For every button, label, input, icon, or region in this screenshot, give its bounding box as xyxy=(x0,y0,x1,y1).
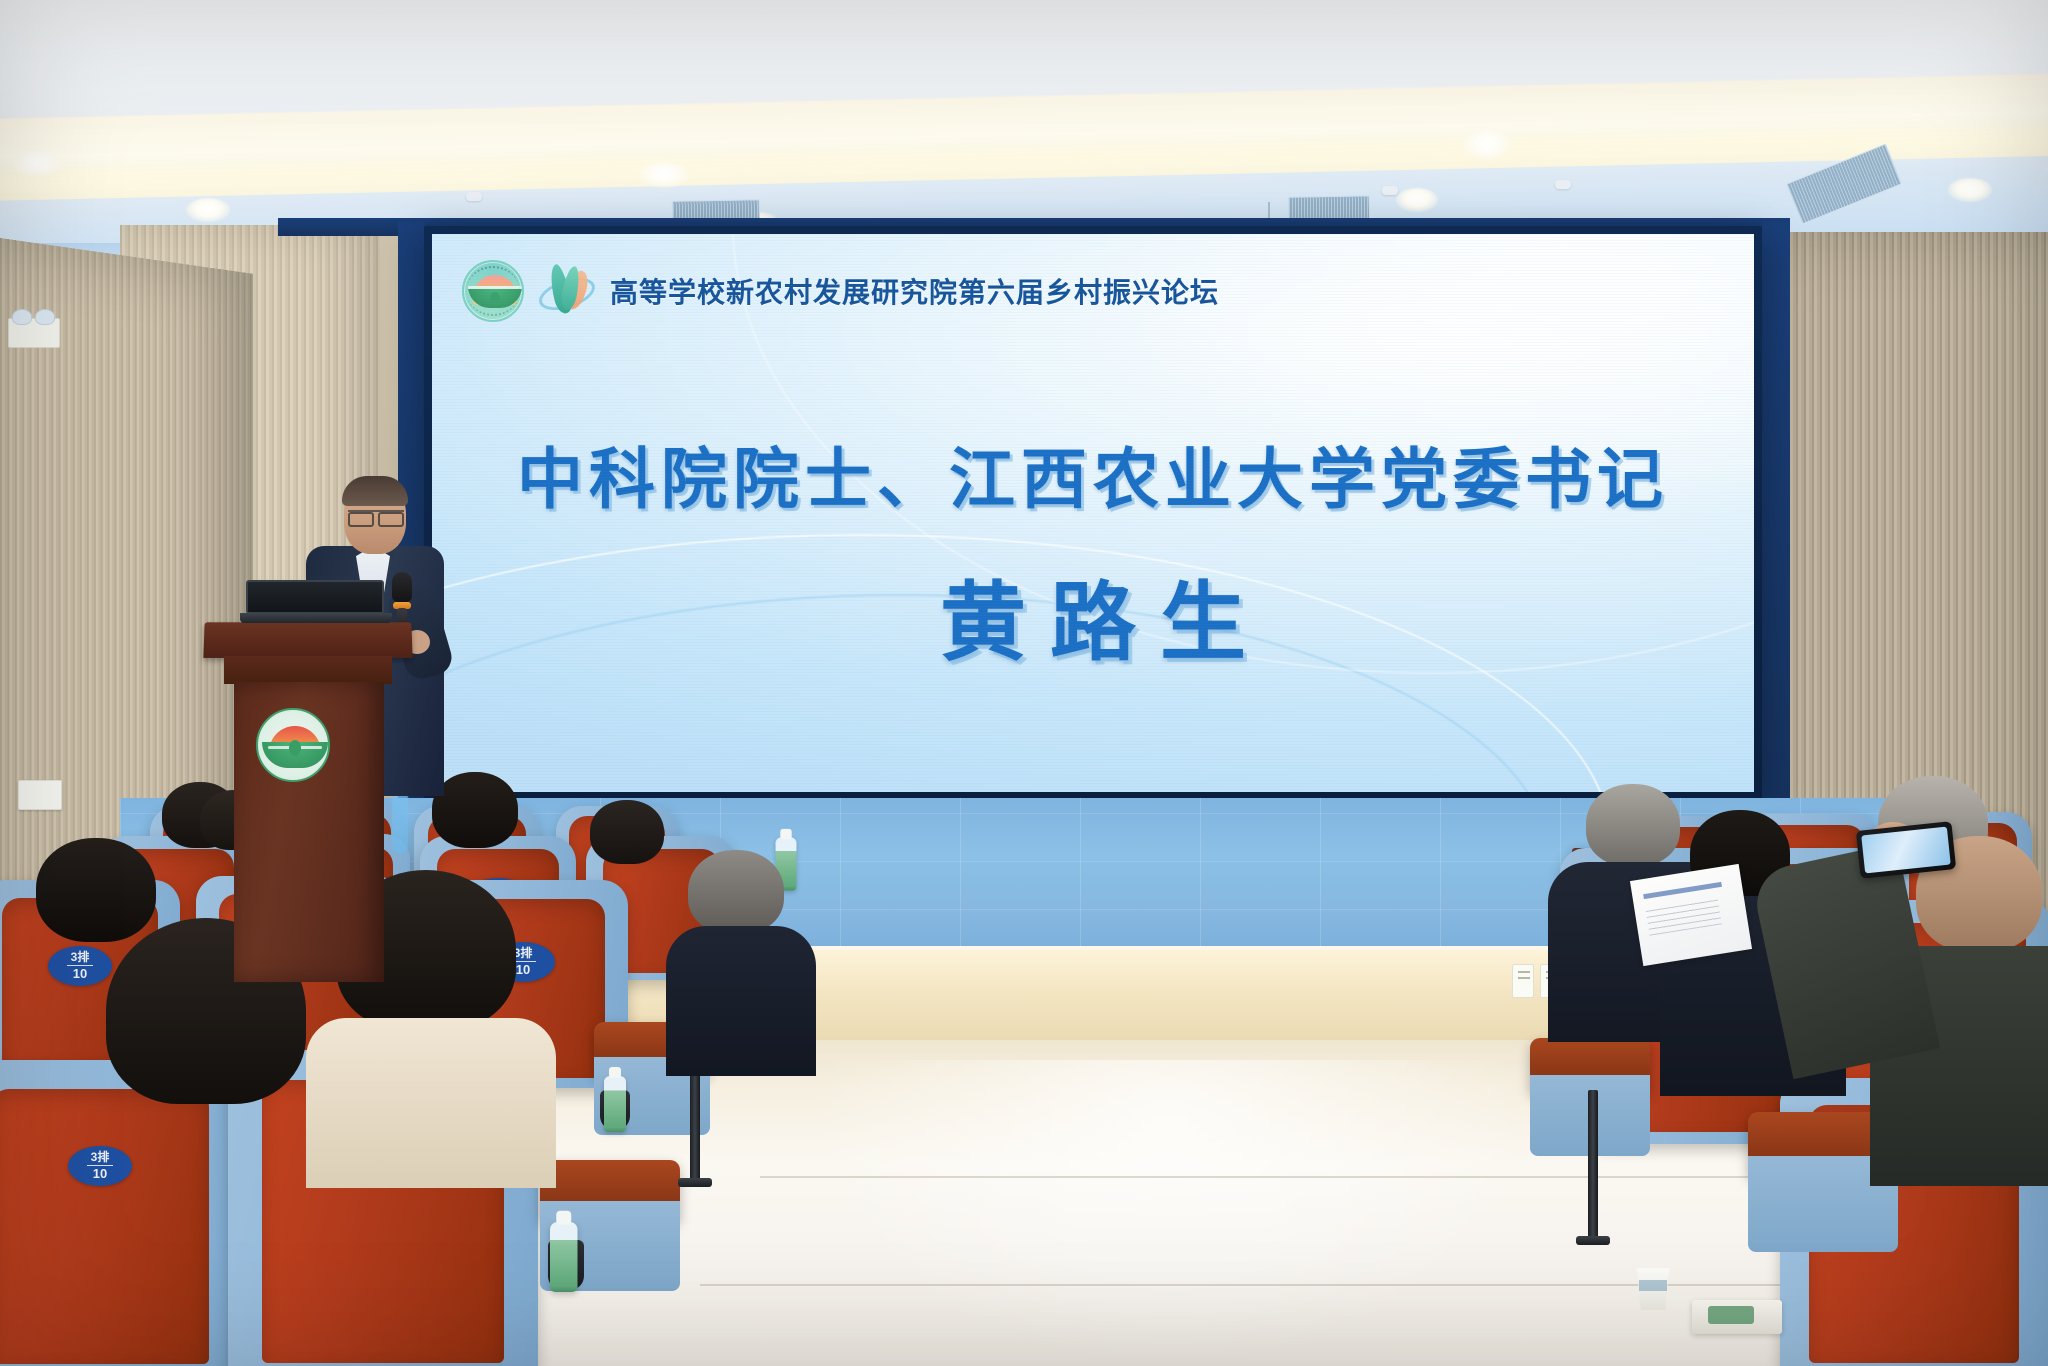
forum-leaf-logo xyxy=(536,260,598,322)
seat-tag-row: 3排 xyxy=(87,1151,114,1166)
wall-switch-plate[interactable] xyxy=(18,780,62,810)
seat-leg-foot xyxy=(678,1178,712,1187)
ceiling-downlight-icon xyxy=(1948,178,1992,202)
smoke-detector-icon xyxy=(466,192,482,201)
aisle-light-glow xyxy=(820,1060,1520,1360)
ceiling-downlight-icon xyxy=(186,198,230,222)
emergency-light-icon xyxy=(8,318,60,348)
seat-tag-number: 10 xyxy=(73,966,87,981)
auditorium-seat[interactable]: 3排 10 xyxy=(0,1060,240,1366)
slide-header-text: 高等学校新农村发展研究院第六届乡村振兴论坛 xyxy=(610,271,1219,311)
slide-header: 高等学校新农村发展研究院第六届乡村振兴论坛 xyxy=(462,260,1219,322)
seat-leg-post xyxy=(690,1072,700,1182)
presentation-slide: 高等学校新农村发展研究院第六届乡村振兴论坛 中科院院士、江西农业大学党委书记 黄… xyxy=(432,234,1754,792)
ceiling-downlight-icon xyxy=(638,162,690,188)
university-emblem-logo xyxy=(462,260,524,322)
seat-tag-number: 10 xyxy=(516,962,530,977)
ceiling-downlight-icon xyxy=(1462,130,1512,160)
water-bottle-icon xyxy=(604,1076,626,1132)
stage-power-outlet[interactable] xyxy=(1512,964,1534,998)
eyeglasses-icon xyxy=(348,510,404,522)
seat-armrest xyxy=(1530,1038,1650,1092)
seat-tag-row: 3排 xyxy=(67,951,94,966)
water-bottle-icon xyxy=(550,1222,578,1292)
ceiling-downlight-icon xyxy=(10,150,64,178)
ceiling-downlight-icon xyxy=(1396,188,1438,212)
slide-title-line: 中科院院士、江西农业大学党委书记 xyxy=(432,426,1754,522)
projection-screen-housing: 高等学校新农村发展研究院第六届乡村振兴论坛 中科院院士、江西农业大学党委书记 黄… xyxy=(424,226,1762,800)
slide-speaker-name: 黄路生 xyxy=(432,552,1754,677)
laptop-icon[interactable] xyxy=(240,580,392,624)
seat-tag-row4-9: 3排 10 xyxy=(68,1146,132,1186)
seat-leg-foot xyxy=(1576,1236,1610,1245)
auditorium-scene: 高等学校新农村发展研究院第六届乡村振兴论坛 中科院院士、江西农业大学党委书记 黄… xyxy=(0,0,2048,1366)
podium-university-emblem xyxy=(256,708,330,782)
screen-right-trim xyxy=(1762,222,1790,822)
handout-paper[interactable] xyxy=(1630,864,1752,966)
seat-leg-post xyxy=(1588,1090,1598,1240)
seat-tag-row3-9: 3排 10 xyxy=(48,946,112,986)
seat-tag-number: 10 xyxy=(93,1166,107,1181)
smoke-detector-icon xyxy=(1382,186,1398,195)
tissue-box xyxy=(1692,1300,1782,1334)
smoke-detector-icon xyxy=(1555,180,1571,189)
smartphone-icon[interactable] xyxy=(1856,821,1956,879)
lectern-podium xyxy=(218,622,398,982)
